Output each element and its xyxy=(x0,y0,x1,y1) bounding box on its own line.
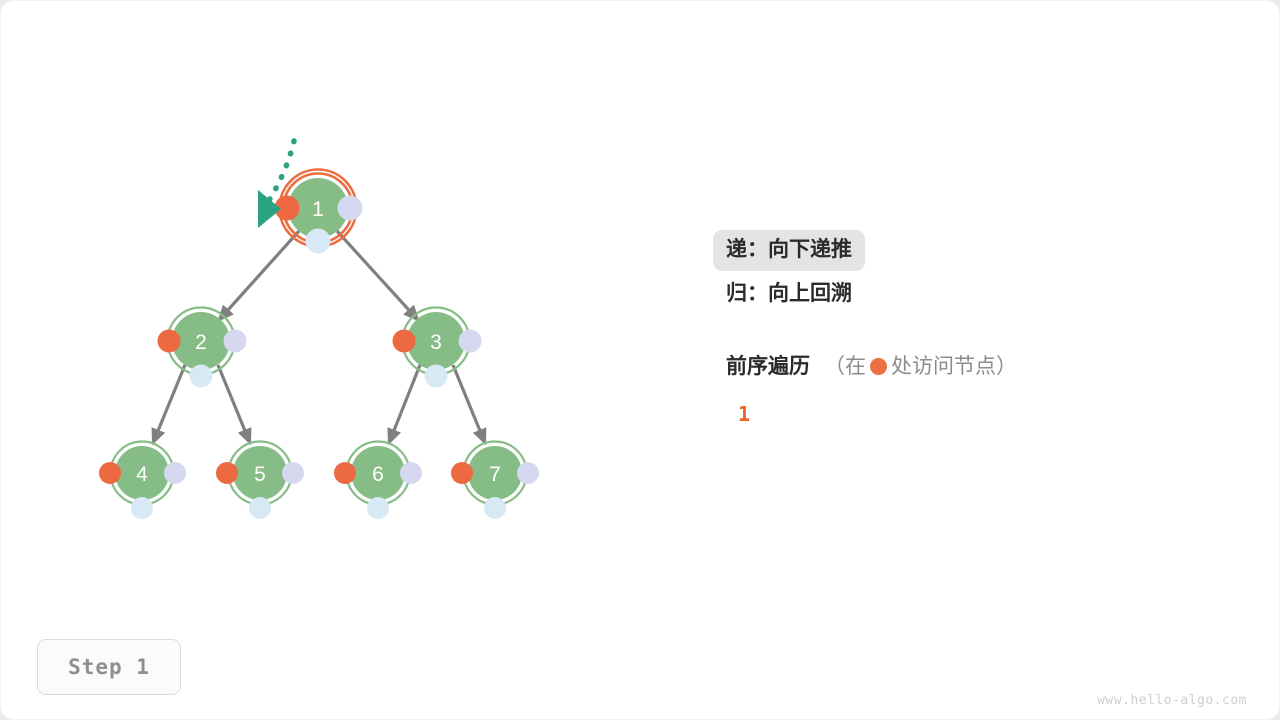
legend-line-recurse: 递：向下递推 xyxy=(726,230,1246,271)
traversal-note-prefix: （在 xyxy=(824,355,866,378)
node-5-bottom-dot xyxy=(249,497,271,519)
tree-node-1[interactable]: 1 xyxy=(275,170,363,254)
tree-node-4[interactable]: 4 xyxy=(99,442,186,520)
node-7-visit-dot xyxy=(451,462,473,484)
legend-line-backtrack: 归：向上回溯 xyxy=(726,283,1246,304)
node-7-label: 7 xyxy=(489,463,501,486)
recursion-pointer-path xyxy=(268,141,294,202)
tree-node-2[interactable]: 2 xyxy=(158,308,247,388)
tree-node-7[interactable]: 7 xyxy=(451,442,539,520)
traversal-sequence: 1 xyxy=(738,402,1246,426)
node-3-label: 3 xyxy=(430,331,442,354)
node-6-visit-dot xyxy=(334,462,356,484)
diagram-canvas: 1 2 3 xyxy=(0,0,1280,720)
legend-backtrack-text: 归：向上回溯 xyxy=(726,282,852,305)
node-5-visit-dot xyxy=(216,462,238,484)
recursion-pointer-head-icon xyxy=(258,190,281,228)
watermark-text: www.hello-algo.com xyxy=(1097,693,1247,708)
node-6-bottom-dot xyxy=(367,497,389,519)
node-2-bottom-dot xyxy=(190,365,213,388)
visit-marker-dot-icon xyxy=(870,358,887,375)
edge-3-7 xyxy=(453,365,485,443)
watermark: www.hello-algo.com xyxy=(1097,693,1247,708)
traversal-heading: 前序遍历（在处访问节点） xyxy=(726,350,1246,380)
tree-nodes: 1 2 3 xyxy=(99,170,539,520)
legend-recurse-highlight: 递：向下递推 xyxy=(713,230,865,271)
node-2-visit-dot xyxy=(158,330,181,353)
node-5-label: 5 xyxy=(254,463,266,486)
node-5-right-dot xyxy=(282,462,304,484)
node-6-label: 6 xyxy=(372,463,384,486)
edge-1-2 xyxy=(219,231,299,320)
node-1-right-dot xyxy=(338,196,363,221)
edge-1-3 xyxy=(337,231,418,320)
tree-node-5[interactable]: 5 xyxy=(216,442,304,520)
node-1-label: 1 xyxy=(312,198,324,221)
legend-panel: 递：向下递推 归：向上回溯 前序遍历（在处访问节点） 1 xyxy=(726,230,1246,426)
edge-3-6 xyxy=(389,365,420,443)
node-6-right-dot xyxy=(400,462,422,484)
node-3-visit-dot xyxy=(393,330,416,353)
traversal-note-suffix: 处访问节点） xyxy=(891,355,1017,378)
node-2-label: 2 xyxy=(195,331,207,354)
traversal-title-text: 前序遍历 xyxy=(726,355,810,378)
node-4-visit-dot xyxy=(99,462,121,484)
node-4-right-dot xyxy=(164,462,186,484)
legend-recurse-text: 递：向下递推 xyxy=(726,238,852,261)
node-2-right-dot xyxy=(224,330,247,353)
tree-node-6[interactable]: 6 xyxy=(334,442,422,520)
node-4-bottom-dot xyxy=(131,497,153,519)
node-7-bottom-dot xyxy=(484,497,506,519)
step-badge-label: Step 1 xyxy=(68,655,150,679)
edge-2-5 xyxy=(218,365,250,443)
node-1-bottom-dot xyxy=(306,229,331,254)
node-7-right-dot xyxy=(517,462,539,484)
edge-2-4 xyxy=(153,365,185,443)
step-badge: Step 1 xyxy=(37,639,181,695)
node-3-bottom-dot xyxy=(425,365,448,388)
tree-node-3[interactable]: 3 xyxy=(393,308,482,388)
node-3-right-dot xyxy=(459,330,482,353)
node-4-label: 4 xyxy=(136,463,148,486)
